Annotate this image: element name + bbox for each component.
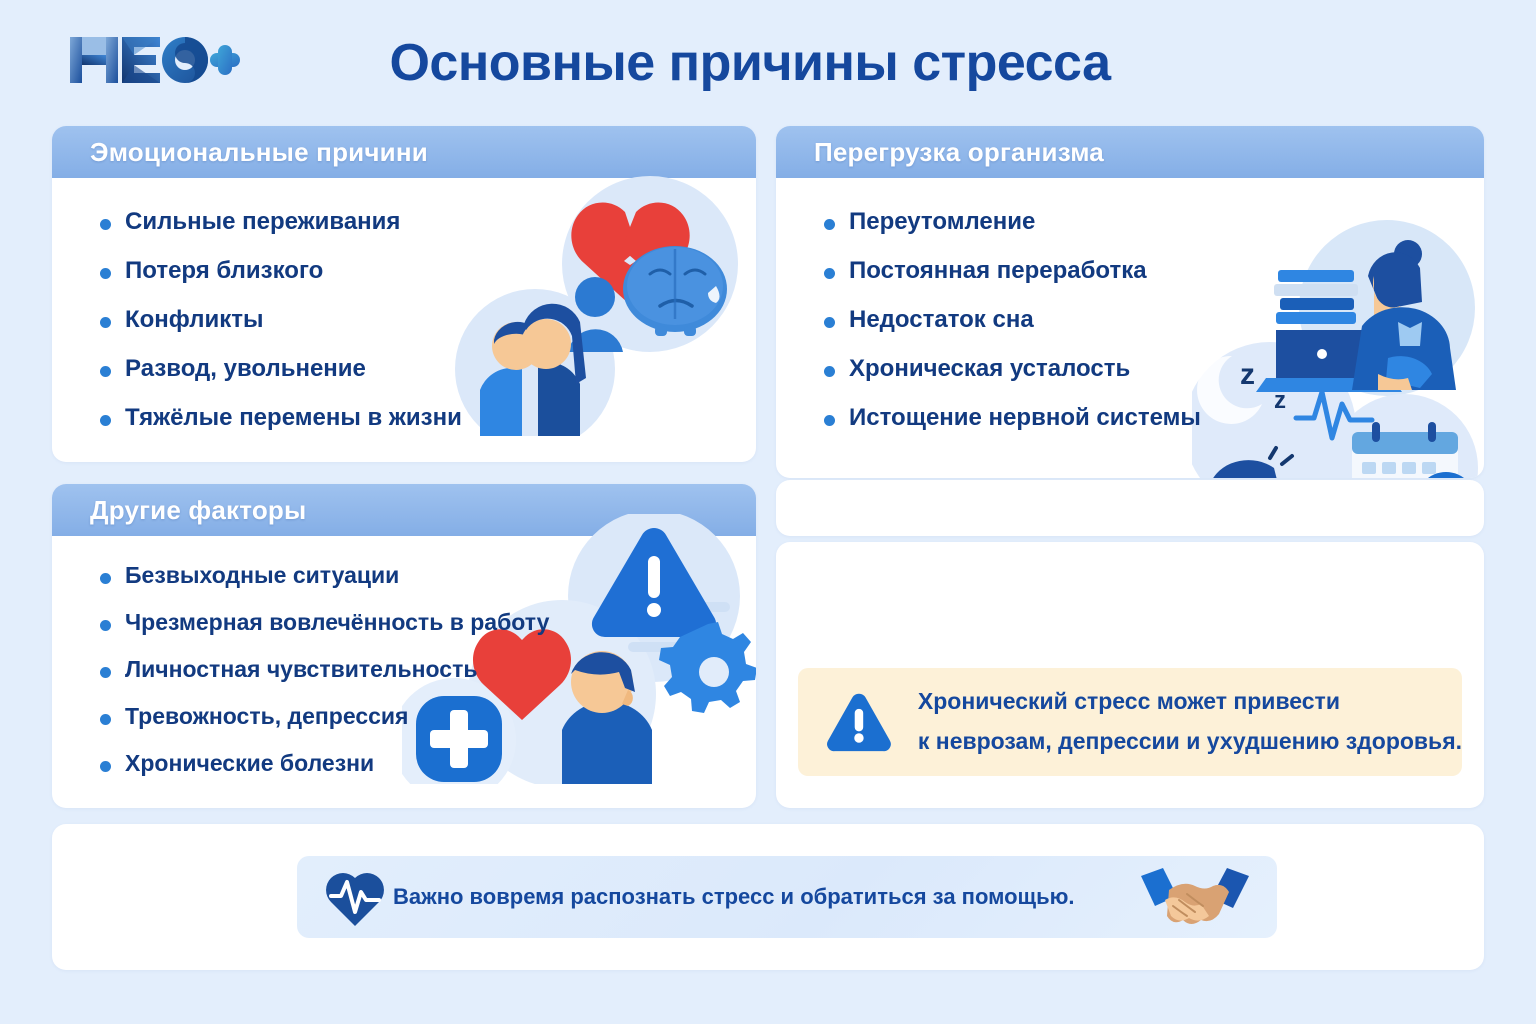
footer-banner: Важно вовремя распознать стресс и обрати… bbox=[297, 856, 1277, 938]
handshake-icon bbox=[1139, 862, 1251, 932]
list-item-label: Потеря близкого bbox=[125, 257, 323, 285]
card-overload-body: z z bbox=[776, 178, 1484, 478]
list-item: Развод, увольнение bbox=[100, 355, 756, 383]
list-item-label: Развод, увольнение bbox=[125, 355, 366, 383]
card-emotional-title: Эмоциональные причини bbox=[90, 137, 428, 168]
card-other-body: Безвыходные ситуации Чрезмерная вовлечён… bbox=[52, 536, 756, 808]
warning-text: Хронический стресс может привести к невр… bbox=[918, 682, 1462, 761]
list-item-label: Постоянная переработка bbox=[849, 257, 1147, 285]
bullet-dot-icon bbox=[100, 366, 111, 377]
list-item: Тревожность, депрессия bbox=[100, 703, 756, 730]
list-item: Конфликты bbox=[100, 306, 756, 334]
list-item: Личностная чувствительность bbox=[100, 656, 756, 683]
sleeping-person-icon bbox=[1206, 448, 1338, 478]
list-item-label: Истощение нервной системы bbox=[849, 404, 1201, 432]
list-item: Сильные переживания bbox=[100, 208, 756, 236]
card-other-header: Другие факторы bbox=[52, 484, 756, 536]
card-other-factors: Другие факторы bbox=[52, 484, 756, 808]
emotional-list: Сильные переживания Потеря близкого Конф… bbox=[52, 178, 756, 432]
card-emotional-body: Сильные переживания Потеря близкого Конф… bbox=[52, 178, 756, 462]
bullet-dot-icon bbox=[824, 366, 835, 377]
list-item-label: Хроническая усталость bbox=[849, 355, 1130, 383]
card-warning-panel: Хронический стресс может привести к невр… bbox=[776, 542, 1484, 808]
list-item: Чрезмерная вовлечённость в работу bbox=[100, 609, 756, 636]
logo-letter-n bbox=[70, 37, 118, 83]
footer-text: Важно вовремя распознать стресс и обрати… bbox=[393, 884, 1075, 910]
list-item: Тяжёлые перемены в жизни bbox=[100, 404, 756, 432]
bullet-dot-icon bbox=[100, 219, 111, 230]
logo-letter-o bbox=[162, 37, 208, 83]
bullet-dot-icon bbox=[100, 317, 111, 328]
list-item: Хронические болезни bbox=[100, 750, 756, 777]
warning-line-1: Хронический стресс может привести bbox=[918, 682, 1462, 722]
list-item: Потеря близкого bbox=[100, 257, 756, 285]
overload-list: Переутомление Постоянная переработка Нед… bbox=[776, 178, 1484, 432]
card-spacer-panel bbox=[776, 480, 1484, 536]
bullet-dot-icon bbox=[824, 219, 835, 230]
bullet-dot-icon bbox=[100, 620, 111, 631]
heart-pulse-icon bbox=[323, 866, 387, 928]
card-emotional-causes: Эмоциональные причини bbox=[52, 126, 756, 462]
list-item-label: Недостаток сна bbox=[849, 306, 1034, 334]
card-body-overload: Перегрузка организма bbox=[776, 126, 1484, 478]
card-footer-panel: Важно вовремя распознать стресс и обрати… bbox=[52, 824, 1484, 970]
list-item-label: Чрезмерная вовлечённость в работу bbox=[125, 609, 549, 636]
bullet-dot-icon bbox=[100, 761, 111, 772]
list-item-label: Конфликты bbox=[125, 306, 263, 334]
bullet-dot-icon bbox=[824, 415, 835, 426]
list-item: Недостаток сна bbox=[824, 306, 1484, 334]
logo-plus-icon bbox=[210, 45, 240, 75]
list-item-label: Сильные переживания bbox=[125, 208, 400, 236]
list-item: Постоянная переработка bbox=[824, 257, 1484, 285]
bullet-dot-icon bbox=[824, 317, 835, 328]
other-factors-list: Безвыходные ситуации Чрезмерная вовлечён… bbox=[52, 536, 756, 777]
warning-triangle-icon bbox=[826, 690, 892, 754]
bullet-dot-icon bbox=[824, 268, 835, 279]
bullet-dot-icon bbox=[100, 415, 111, 426]
list-item-label: Хронические болезни bbox=[125, 750, 374, 777]
card-overload-header: Перегрузка организма bbox=[776, 126, 1484, 178]
bullet-dot-icon bbox=[100, 714, 111, 725]
card-emotional-header: Эмоциональные причини bbox=[52, 126, 756, 178]
card-other-title: Другие факторы bbox=[90, 495, 306, 526]
warning-callout: Хронический стресс может привести к невр… bbox=[798, 668, 1462, 776]
card-overload-title: Перегрузка организма bbox=[814, 137, 1104, 168]
list-item-label: Безвыходные ситуации bbox=[125, 562, 399, 589]
list-item-label: Личностная чувствительность bbox=[125, 656, 478, 683]
list-item: Переутомление bbox=[824, 208, 1484, 236]
warning-line-2: к неврозам, депрессии и ухудшению здоров… bbox=[918, 722, 1462, 762]
page-header: Основные причины стресса bbox=[0, 0, 1536, 118]
list-item-label: Переутомление bbox=[849, 208, 1035, 236]
bullet-dot-icon bbox=[100, 573, 111, 584]
list-item-label: Тяжёлые перемены в жизни bbox=[125, 404, 462, 432]
brand-logo[interactable] bbox=[62, 25, 242, 95]
logo-letter-e bbox=[122, 37, 160, 83]
list-item: Хроническая усталость bbox=[824, 355, 1484, 383]
list-item: Истощение нервной системы bbox=[824, 404, 1484, 432]
bullet-dot-icon bbox=[100, 268, 111, 279]
list-item-label: Тревожность, депрессия bbox=[125, 703, 408, 730]
list-item: Безвыходные ситуации bbox=[100, 562, 756, 589]
bullet-dot-icon bbox=[100, 667, 111, 678]
page-title: Основные причины стресса bbox=[350, 28, 1150, 98]
